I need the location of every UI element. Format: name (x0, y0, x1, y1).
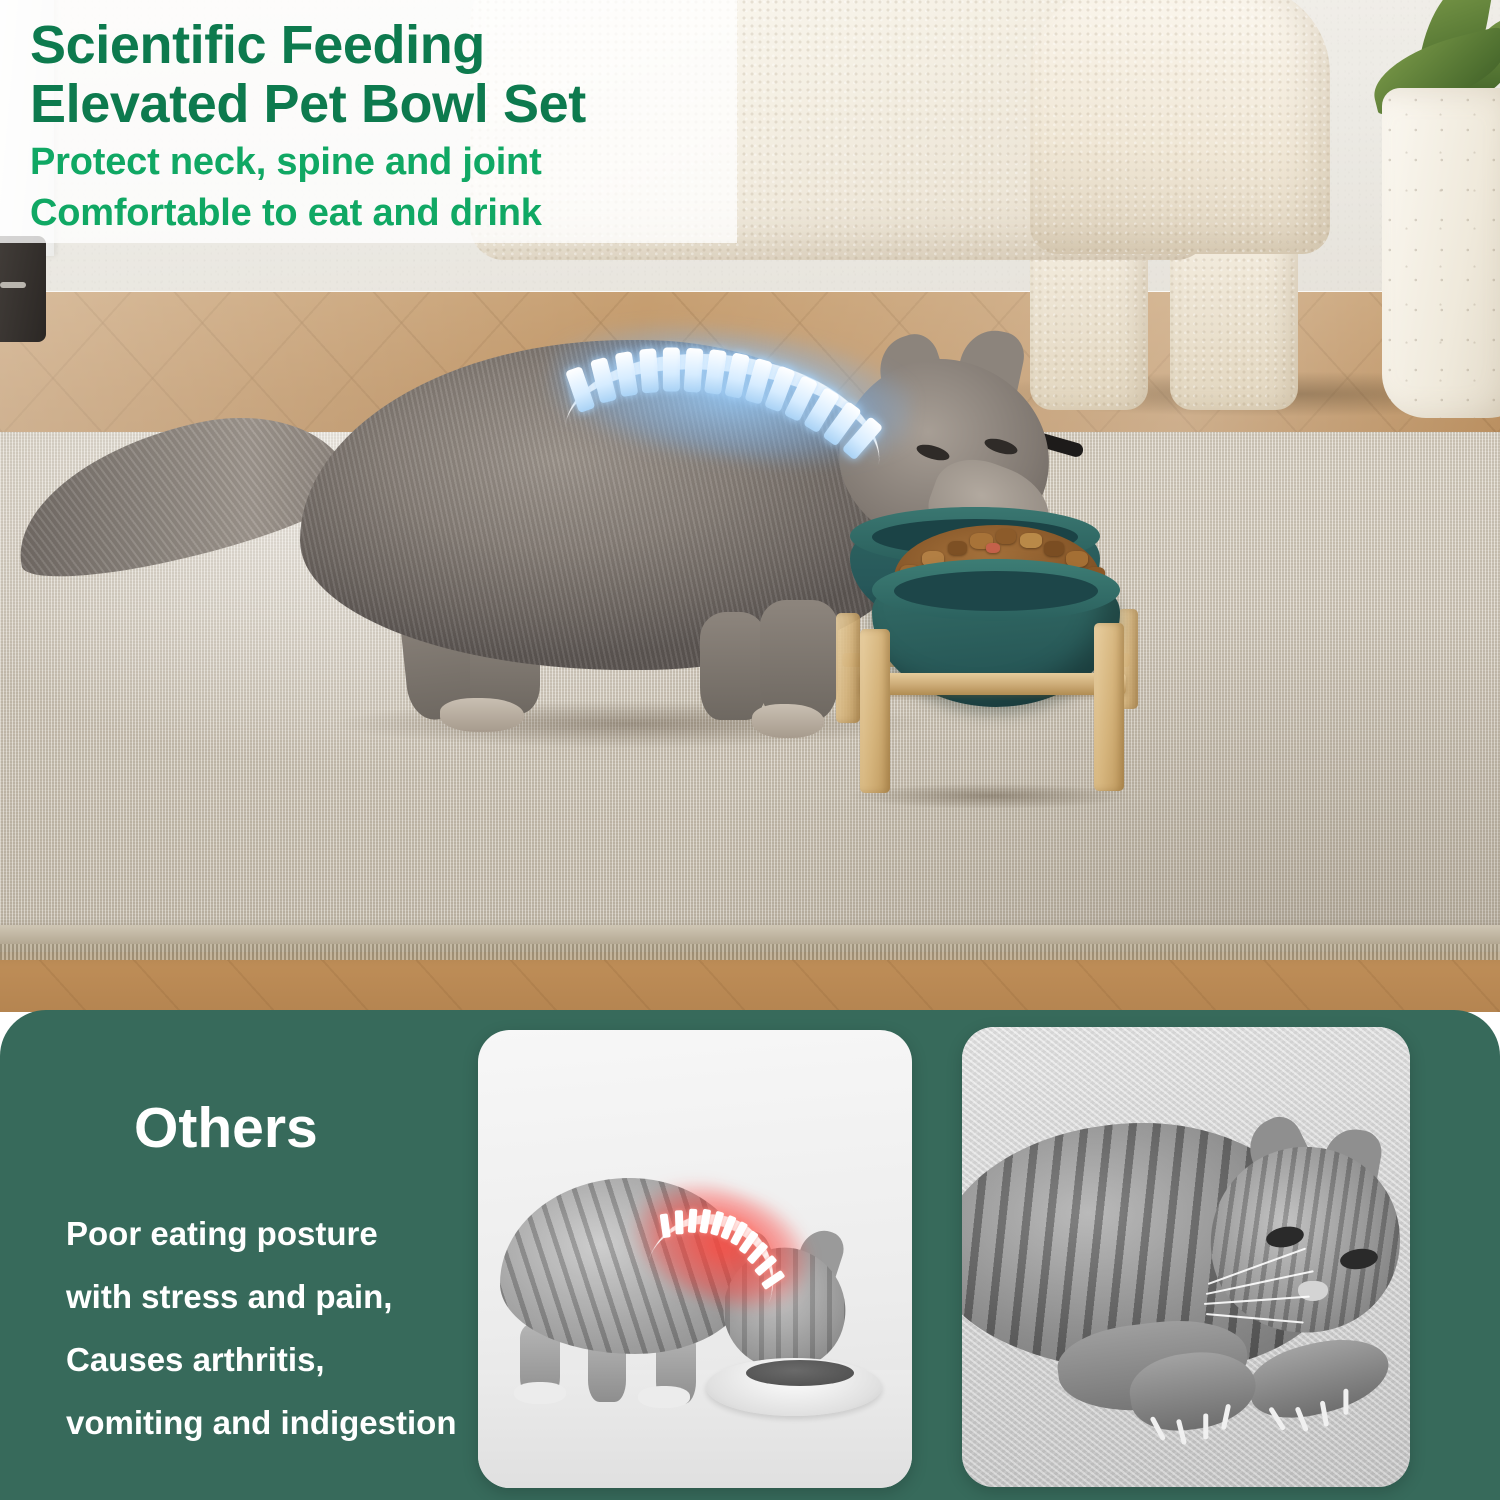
cat-paw (440, 698, 524, 732)
subheadline-line-2: Comfortable to eat and drink (30, 191, 730, 236)
stand-leg (860, 629, 890, 793)
ceramic-plant-pot (1382, 88, 1500, 418)
plate-food (746, 1360, 854, 1386)
elevated-pet-bowl-set (836, 505, 1136, 790)
panel-heading: Others (134, 1096, 456, 1160)
panel-body-lines: Poor eating posture with stress and pain… (66, 1202, 456, 1454)
headline-line-1: Scientific Feeding (30, 16, 730, 75)
stand-rail (860, 673, 1126, 695)
subheadline-line-1: Protect neck, spine and joint (30, 140, 730, 185)
floor-below-rug (0, 952, 1500, 1012)
stand-leg (1094, 623, 1124, 791)
panel-line: vomiting and indigestion (66, 1391, 456, 1454)
headline-block: Scientific Feeding Elevated Pet Bowl Set… (30, 16, 730, 236)
comparison-panel: Others Poor eating posture with stress a… (0, 1010, 1500, 1500)
headline-line-2: Elevated Pet Bowl Set (30, 75, 730, 134)
painful-spine-overlay-icon (645, 1187, 796, 1302)
product-marketing-image: Scientific Feeding Elevated Pet Bowl Set… (0, 0, 1500, 1500)
card-bad-posture-photo (478, 1030, 912, 1488)
hero-photo-scene: Scientific Feeding Elevated Pet Bowl Set… (0, 0, 1500, 1012)
stand-leg (836, 613, 860, 723)
panel-line: Causes arthritis, (66, 1328, 456, 1391)
rug-fringe (0, 944, 1500, 960)
cabinet-handle-icon (0, 282, 26, 288)
panel-line: Poor eating posture (66, 1202, 456, 1265)
panel-line: with stress and pain, (66, 1265, 456, 1328)
card-unwell-cat-photo (962, 1027, 1410, 1487)
cat-paw (752, 704, 824, 738)
panel-text-block: Others Poor eating posture with stress a… (66, 1096, 456, 1454)
